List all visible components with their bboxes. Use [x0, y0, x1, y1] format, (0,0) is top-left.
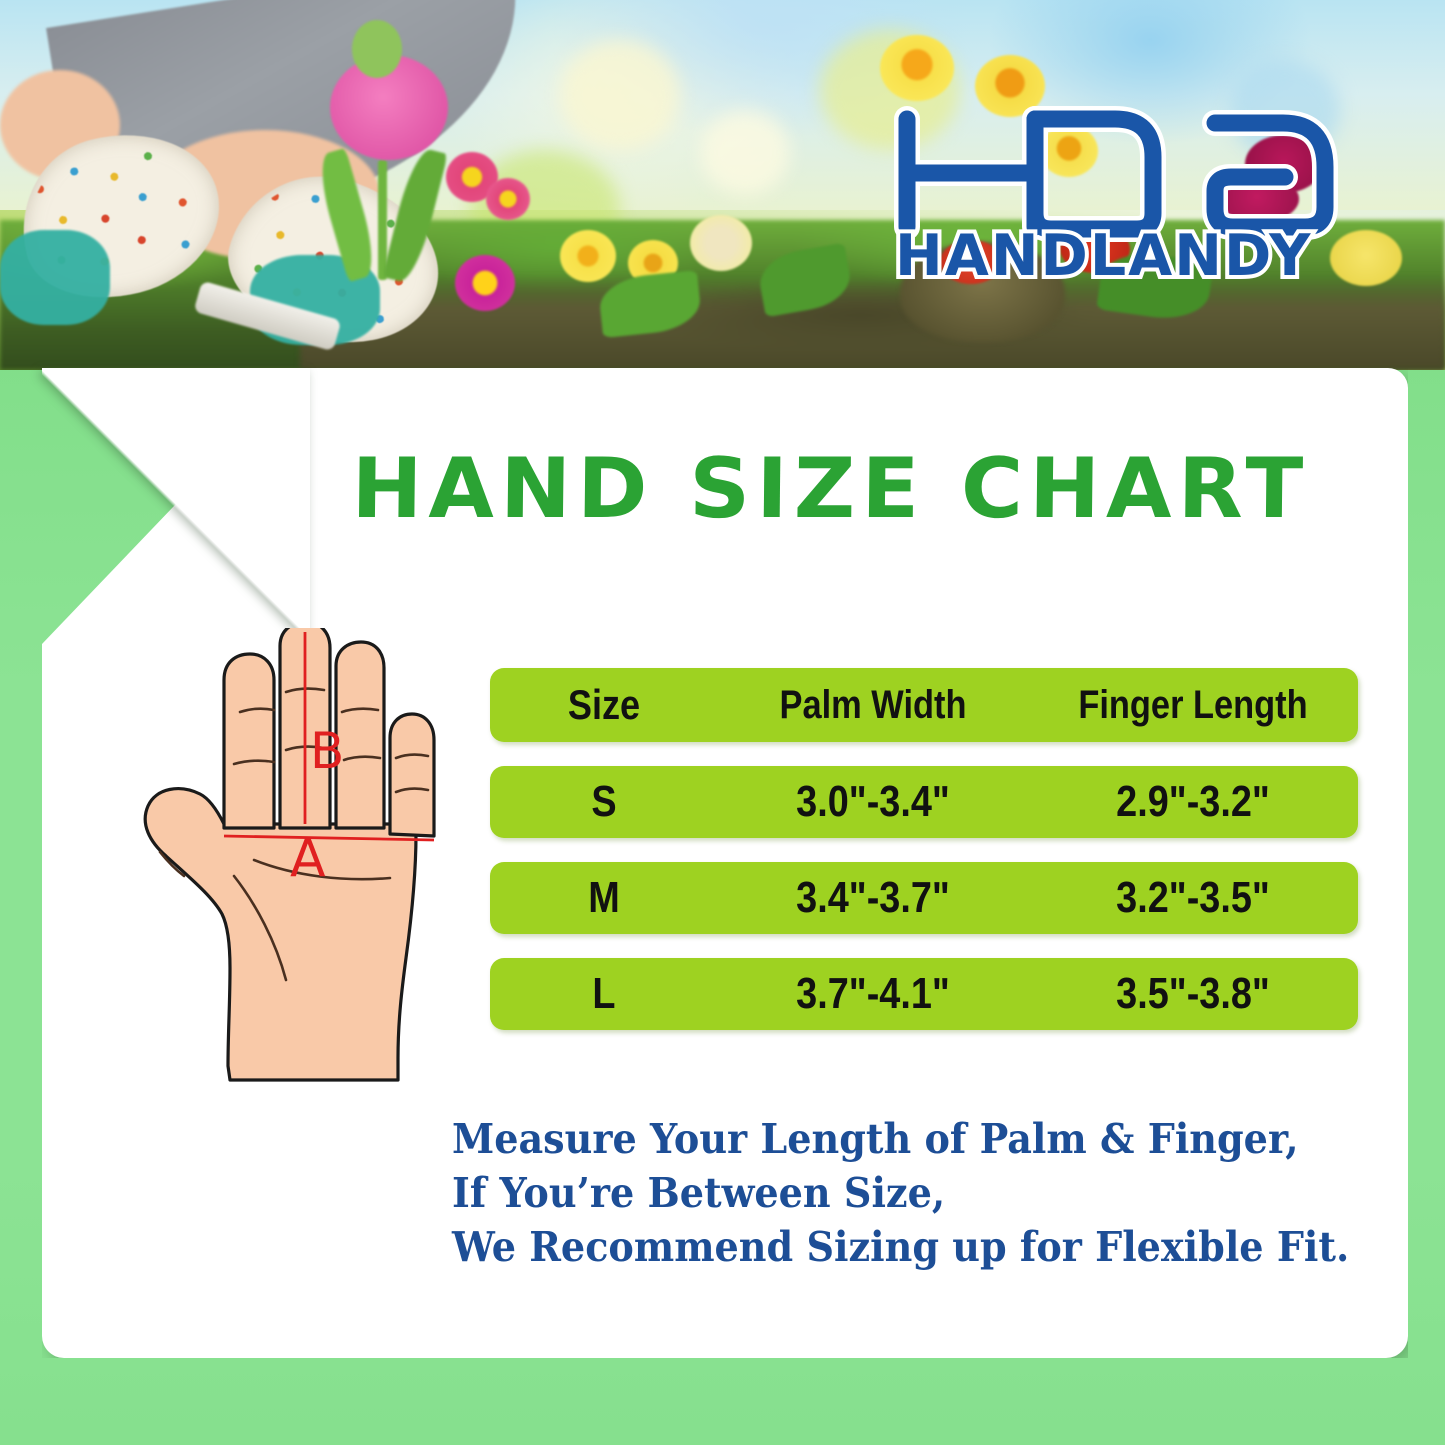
bokeh-highlight — [560, 40, 680, 150]
diagram-label-b: B — [310, 722, 344, 780]
hand-size-chart-infographic: HANDLANDY HANDLANDY HAND SIZE CHART — [0, 0, 1445, 1445]
note-line-2: If You’re Between Size, — [452, 1166, 1289, 1220]
diagram-label-a: A — [290, 829, 326, 889]
column-header-palm-width: Palm Width — [740, 683, 1007, 728]
daffodil-flower — [880, 35, 954, 101]
cell-size: S — [506, 777, 702, 827]
note-line-3: We Recommend Sizing up for Flexible Fit. — [452, 1220, 1289, 1274]
note-line-1: Measure Your Length of Palm & Finger, — [452, 1112, 1289, 1166]
cell-finger-length: 2.9"-3.2" — [1051, 777, 1335, 827]
hand-measurement-diagram: B A — [104, 628, 490, 1088]
cell-palm-width: 3.0"-3.4" — [740, 777, 1007, 827]
daisy-flower — [455, 255, 515, 311]
primrose-flower — [560, 230, 616, 282]
cell-finger-length: 3.2"-3.5" — [1051, 873, 1335, 923]
table-row: L 3.7"-4.1" 3.5"-3.8" — [490, 958, 1358, 1030]
daisy-flower — [486, 178, 530, 220]
hyacinth-bud — [352, 20, 402, 78]
page-title: HAND SIZE CHART — [351, 450, 1382, 528]
table-header-row: Size Palm Width Finger Length — [490, 668, 1358, 742]
column-header-size: Size — [506, 681, 702, 729]
logo-wordmark: HANDLANDY — [895, 223, 1312, 280]
cell-palm-width: 3.4"-3.7" — [740, 873, 1007, 923]
bokeh-highlight — [700, 110, 790, 195]
cell-finger-length: 3.5"-3.8" — [1051, 969, 1335, 1019]
sizing-advice-note: Measure Your Length of Palm & Finger, If… — [452, 1112, 1289, 1274]
table-row: M 3.4"-3.7" 3.2"-3.5" — [490, 862, 1358, 934]
hero-photo: HANDLANDY HANDLANDY — [0, 0, 1445, 370]
table-row: S 3.0"-3.4" 2.9"-3.2" — [490, 766, 1358, 838]
column-header-finger-length: Finger Length — [1051, 683, 1335, 728]
size-table: Size Palm Width Finger Length S 3.0"-3.4… — [490, 668, 1358, 1054]
cell-size: M — [506, 873, 702, 923]
cell-size: L — [506, 969, 702, 1019]
handlandy-logo: HANDLANDY HANDLANDY — [885, 95, 1355, 280]
cell-palm-width: 3.7"-4.1" — [740, 969, 1007, 1019]
primrose-flower — [690, 215, 752, 271]
glove-cuff — [0, 230, 110, 325]
